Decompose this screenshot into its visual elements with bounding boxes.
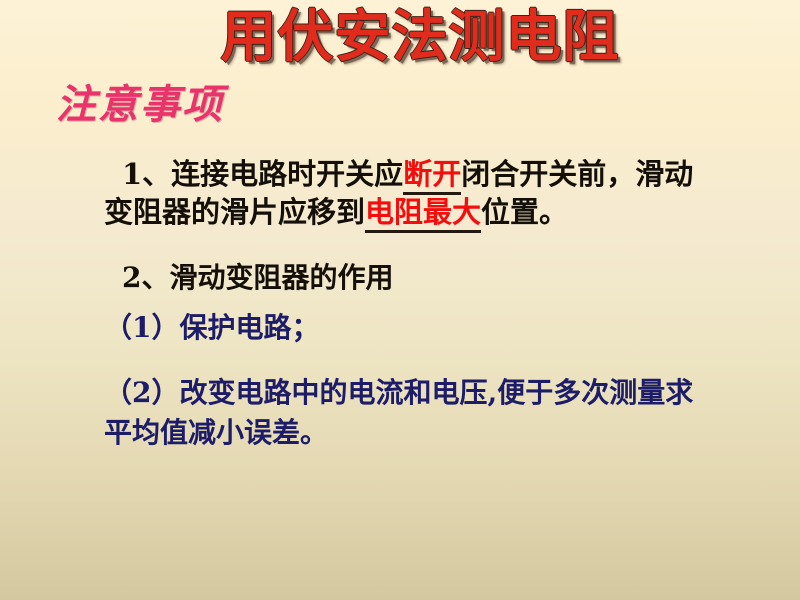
item1-lead-text: 1、连接电路时开关应 (122, 157, 403, 191)
presentation-slide: 用伏安法测电阻 注意事项 1、连接电路时开关应断开闭合开关前，滑动变阻器的滑片应… (0, 0, 800, 600)
slide-body: 1、连接电路时开关应断开闭合开关前，滑动变阻器的滑片应移到电阻最大位置。 2、滑… (0, 155, 800, 453)
body-item-2-sub-1: （1）保护电路； (0, 309, 800, 347)
body-item-2-heading: 2、滑动变阻器的作用 (0, 259, 800, 297)
subtitle-block: 注意事项 (56, 82, 224, 128)
body-item-1: 1、连接电路时开关应断开闭合开关前，滑动变阻器的滑片应移到电阻最大位置。 (0, 155, 800, 231)
title-block: 用伏安法测电阻 (0, 6, 800, 69)
item1-highlight-dianzuzuida: 电阻最大 (365, 195, 481, 233)
slide-subtitle: 注意事项 (56, 82, 224, 128)
body-item-2-sub-2: （2）改变电路中的电流和电压,便于多次测量求平均值减小误差。 (0, 373, 800, 453)
item1-highlight-duankai: 断开 (403, 157, 461, 195)
item1-tail-text: 位置。 (481, 195, 568, 229)
item1-middle-text: 闭合开关前，滑 (461, 157, 664, 191)
page-title: 用伏安法测电阻 (221, 6, 620, 69)
